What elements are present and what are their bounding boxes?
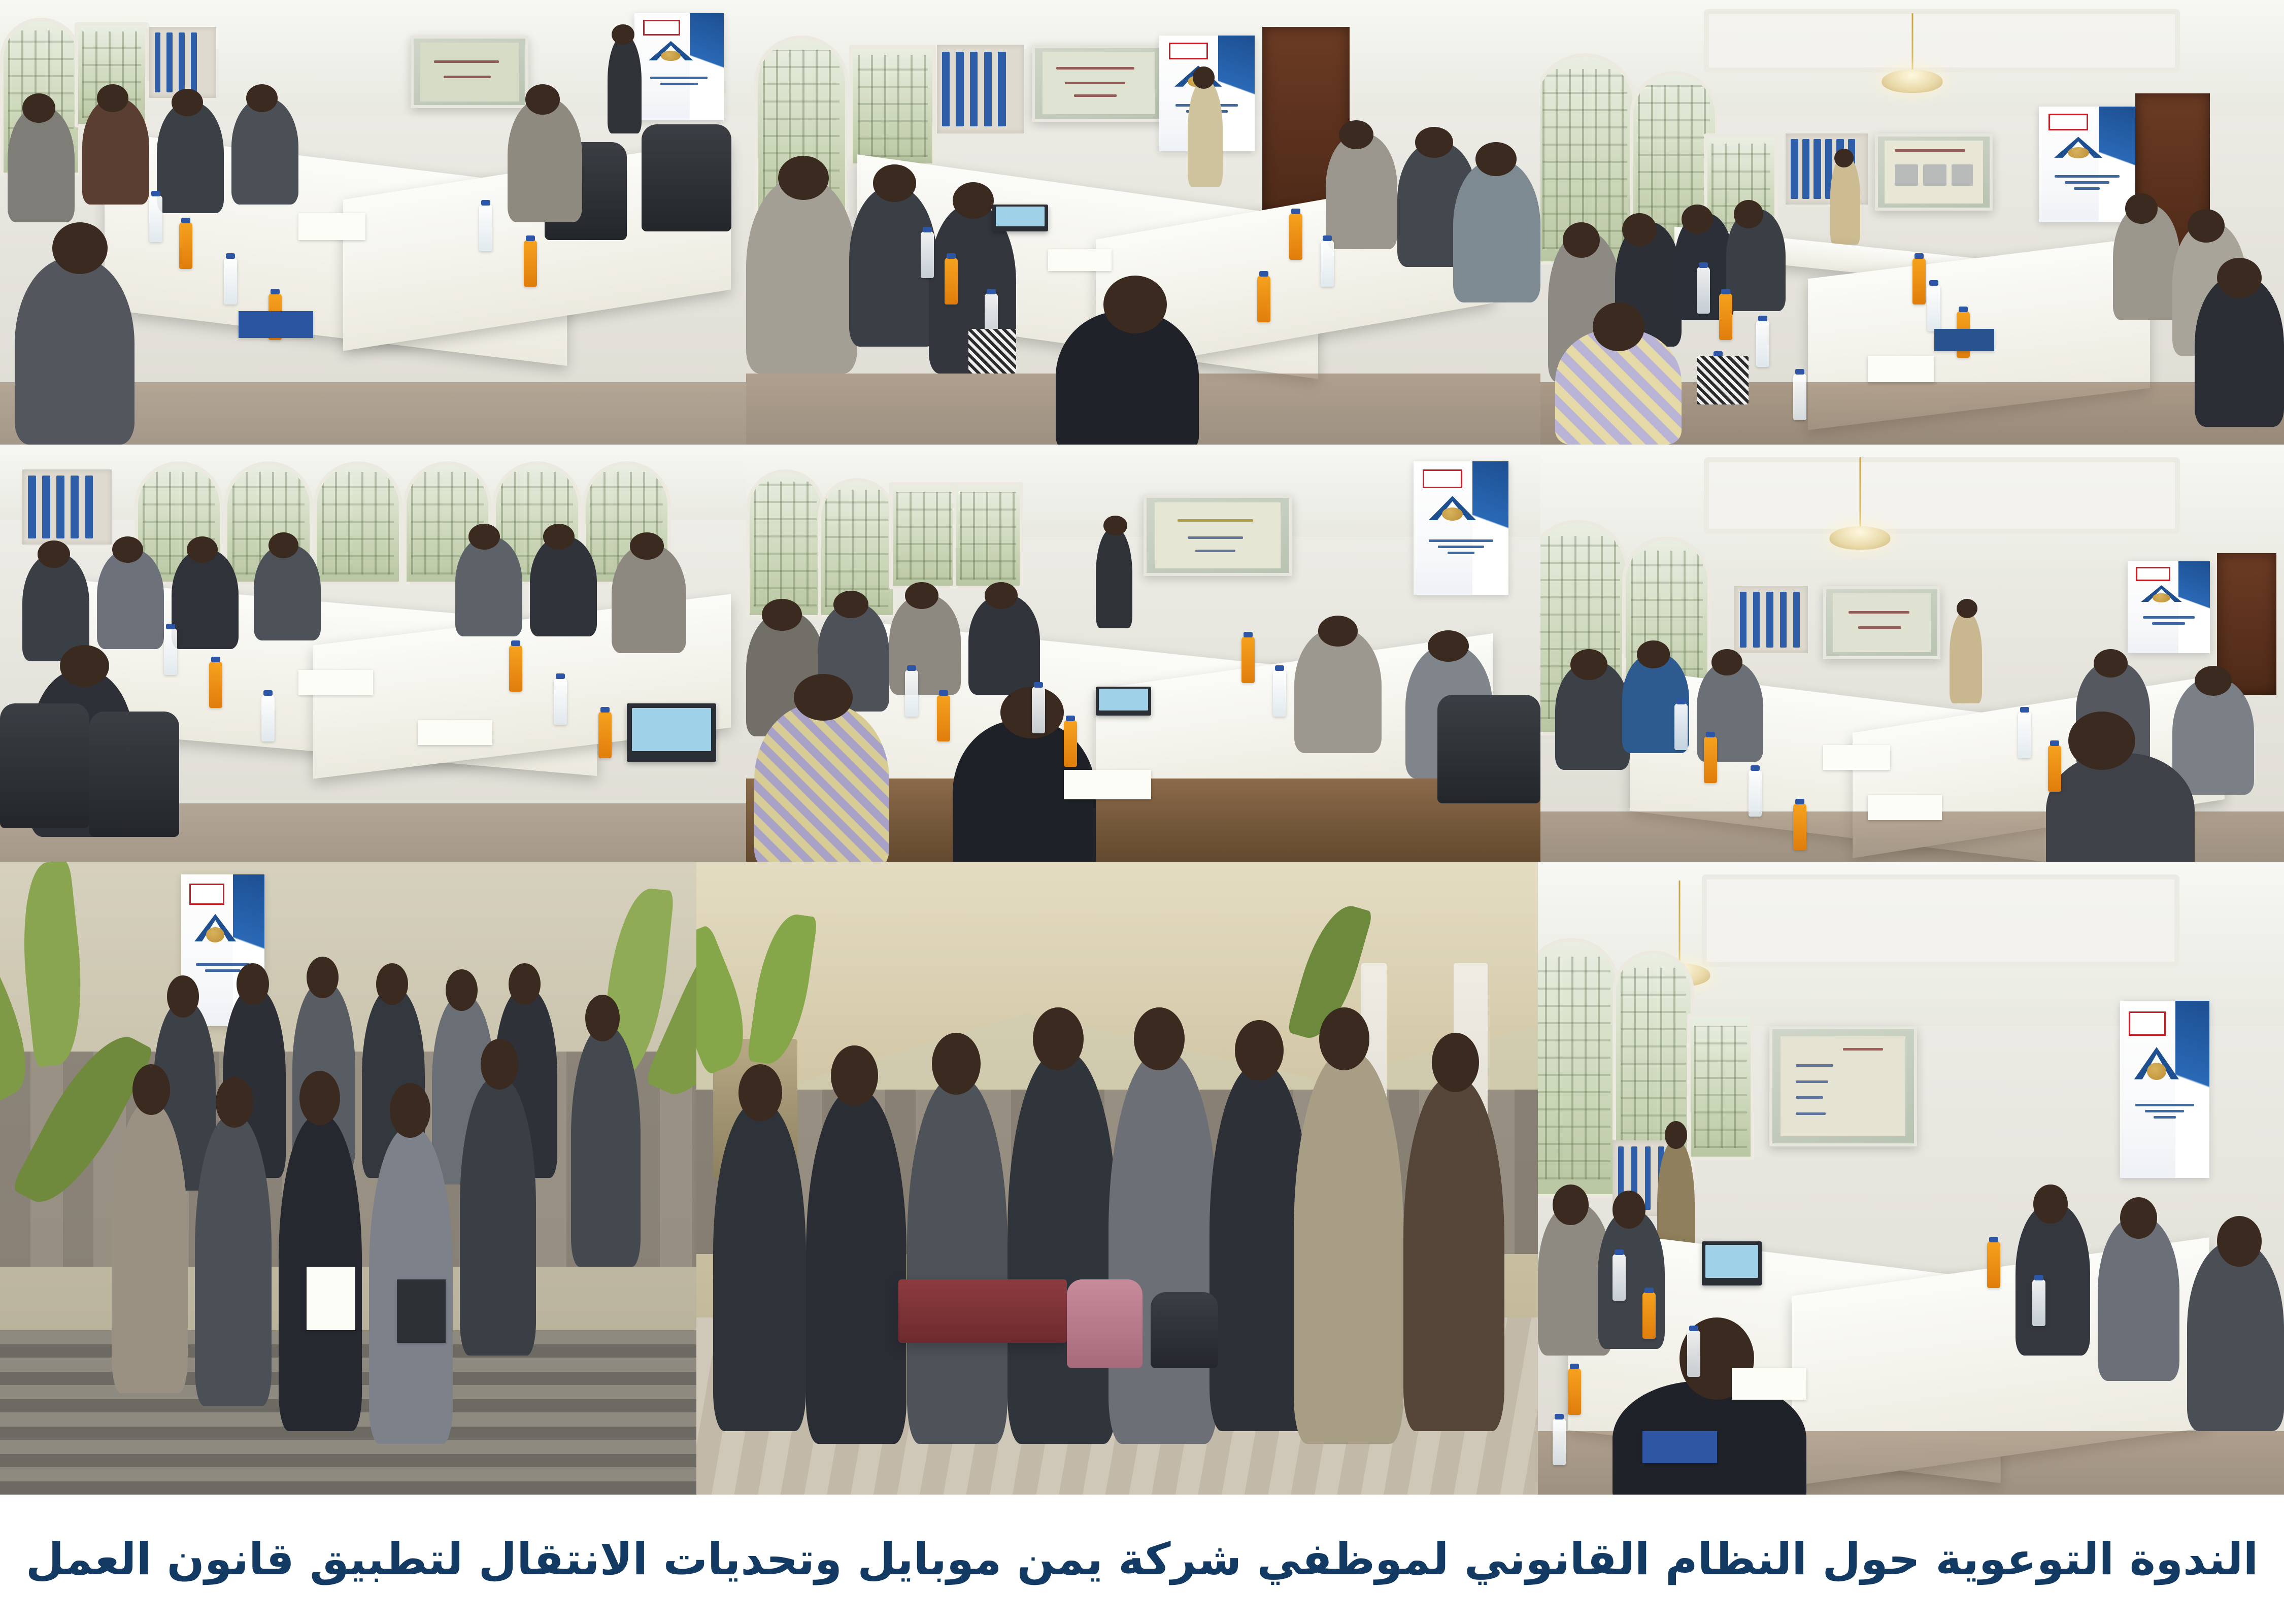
scene-conference-room-wide-audience [0,0,746,445]
photo-cell-4 [1540,445,2284,862]
photo-cell-7 [1538,862,2284,1495]
photo-cell-6 [0,445,746,862]
scene-conference-room-presenter-standing [746,0,1540,445]
photo-cell-5 [746,445,1540,862]
photo-collage-poster: الندوة التوعوية حول النظام القانوني لموظ… [0,0,2284,1624]
chandelier-icon [1911,13,1913,76]
photo-grid-row-1 [0,0,2284,445]
scene-conference-room-presenter-side [1540,445,2284,862]
scene-conference-room-audience-listening [746,445,1540,862]
photo-grid [0,0,2284,1495]
chandelier-icon [1679,881,1681,969]
photo-cell-9 [0,862,696,1495]
scene-conference-room-participants-table [0,445,746,862]
photo-cell-1 [1540,0,2284,445]
scene-group-photo-steps [0,862,696,1495]
photo-cell-3 [0,0,746,445]
photo-cell-8 [696,862,1538,1495]
photo-grid-row-2 [0,445,2284,862]
scene-conference-room-speaker-microphone [1538,862,2284,1495]
scene-conference-room-presenter [1540,0,2284,445]
poster-caption: الندوة التوعوية حول النظام القانوني لموظ… [17,1536,2268,1582]
caption-band: الندوة التوعوية حول النظام القانوني لموظ… [0,1495,2284,1624]
scene-outdoor-courtyard-break [696,862,1538,1495]
photo-grid-row-3 [0,862,2284,1495]
chandelier-icon [1859,457,1861,532]
photo-cell-2 [746,0,1540,445]
